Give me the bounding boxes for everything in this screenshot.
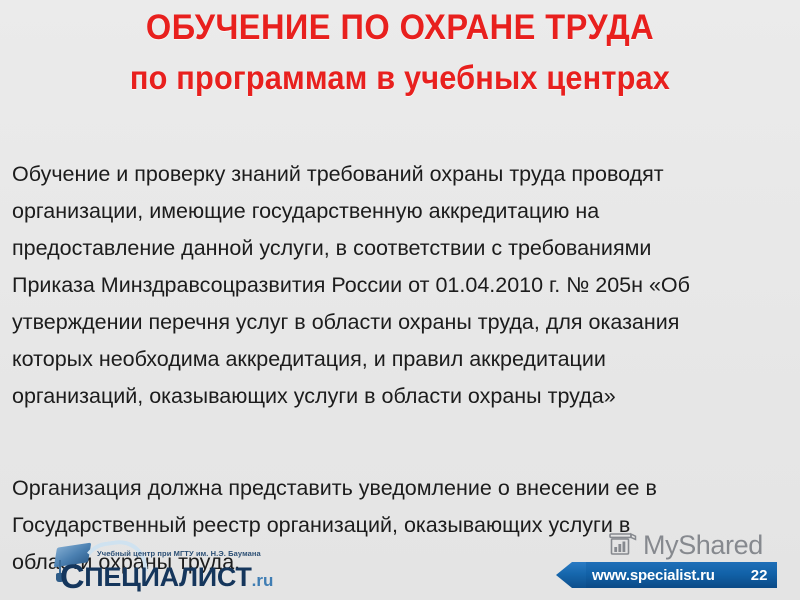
text-line: предоставление данной услуги, в соответс… xyxy=(12,230,788,267)
slide-body: Обучение и проверку знаний требований ох… xyxy=(12,156,788,581)
myshared-watermark: MyShared xyxy=(608,528,763,562)
text-line: которых необходима аккредитация, и прави… xyxy=(12,341,788,378)
logo-initial: С xyxy=(60,558,84,596)
logo-name: ПЕЦИАЛИСТ xyxy=(84,562,251,592)
page-subtitle: по программам в учебных центрах xyxy=(28,56,772,100)
page-title: ОБУЧЕНИЕ ПО ОХРАНЕ ТРУДА xyxy=(28,6,772,50)
site-url-label[interactable]: www.specialist.ru xyxy=(592,567,715,584)
slide-canvas: ОБУЧЕНИЕ ПО ОХРАНЕ ТРУДА по программам в… xyxy=(0,0,800,600)
text-line: Организация должна представить уведомлен… xyxy=(12,470,788,507)
slide-page-number: 22 xyxy=(751,567,768,584)
logo-wordmark: СПЕЦИАЛИСТ.ru xyxy=(60,560,273,596)
paragraph-accreditation: Обучение и проверку знаний требований ох… xyxy=(12,156,788,415)
text-line: утверждении перечня услуг в области охра… xyxy=(12,304,788,341)
text-line: Приказа Минздравсоцразвития России от 01… xyxy=(12,267,788,304)
ribbon-body[interactable]: www.specialist.ru 22 xyxy=(586,562,777,588)
url-ribbon[interactable]: www.specialist.ru 22 xyxy=(556,562,777,588)
slide-title-block: ОБУЧЕНИЕ ПО ОХРАНЕ ТРУДА по программам в… xyxy=(0,6,800,100)
ribbon-arrow-icon xyxy=(556,562,586,588)
text-line: организации, имеющие государственную акк… xyxy=(12,193,788,230)
text-line: Обучение и проверку знаний требований ох… xyxy=(12,156,788,193)
logo-domain: .ru xyxy=(252,571,274,590)
presentation-chart-icon xyxy=(608,532,638,558)
text-line: организаций, оказывающих услуги в област… xyxy=(12,378,788,415)
specialist-logo[interactable]: Учебный центр при МГТУ им. Н.Э. Баумана … xyxy=(52,539,302,595)
myshared-label: MyShared xyxy=(643,531,763,559)
logo-tagline: Учебный центр при МГТУ им. Н.Э. Баумана xyxy=(97,549,261,558)
